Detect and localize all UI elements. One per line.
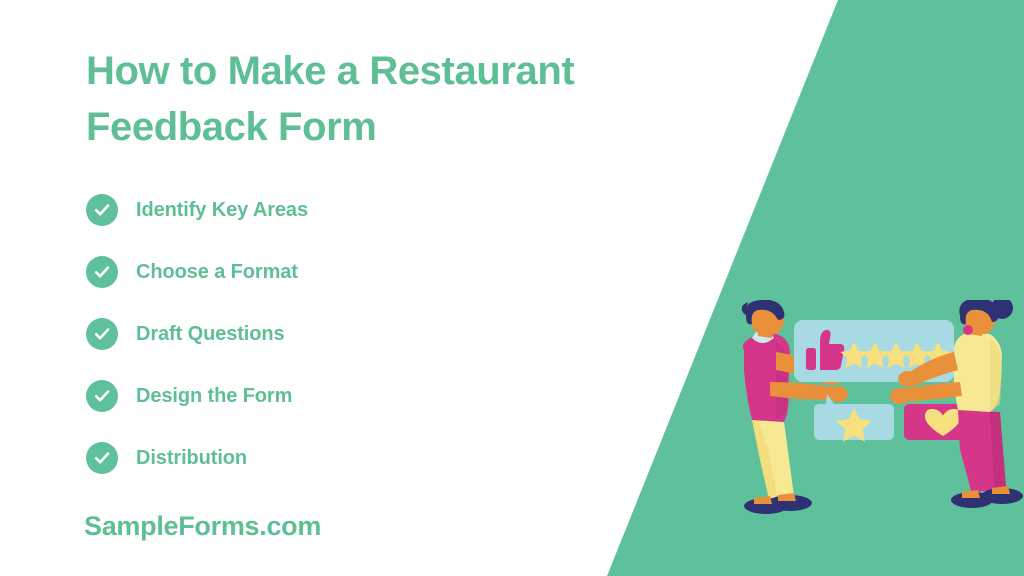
page-title: How to Make a Restaurant Feedback Form (86, 43, 646, 155)
check-circle-icon (86, 442, 118, 474)
checklist: Identify Key Areas Choose a Format Draft… (86, 190, 308, 500)
list-item[interactable]: Distribution (86, 438, 308, 478)
checklist-item-label: Design the Form (136, 385, 292, 408)
list-item[interactable]: Identify Key Areas (86, 190, 308, 230)
list-item[interactable]: Design the Form (86, 376, 308, 416)
poster: How to Make a Restaurant Feedback Form I… (0, 0, 1024, 576)
star-bubble (814, 394, 894, 442)
list-item[interactable]: Choose a Format (86, 252, 308, 292)
check-circle-icon (86, 318, 118, 350)
list-item[interactable]: Draft Questions (86, 314, 308, 354)
brand-wordmark: SampleForms.com (84, 511, 321, 542)
checklist-item-label: Identify Key Areas (136, 199, 308, 222)
checklist-item-label: Choose a Format (136, 261, 298, 284)
content-column: How to Make a Restaurant Feedback Form I… (0, 0, 660, 576)
checklist-item-label: Draft Questions (136, 323, 285, 346)
checklist-item-label: Distribution (136, 447, 247, 470)
check-circle-icon (86, 194, 118, 226)
check-circle-icon (86, 256, 118, 288)
check-circle-icon (86, 380, 118, 412)
customer-feedback-illustration (714, 300, 1024, 535)
